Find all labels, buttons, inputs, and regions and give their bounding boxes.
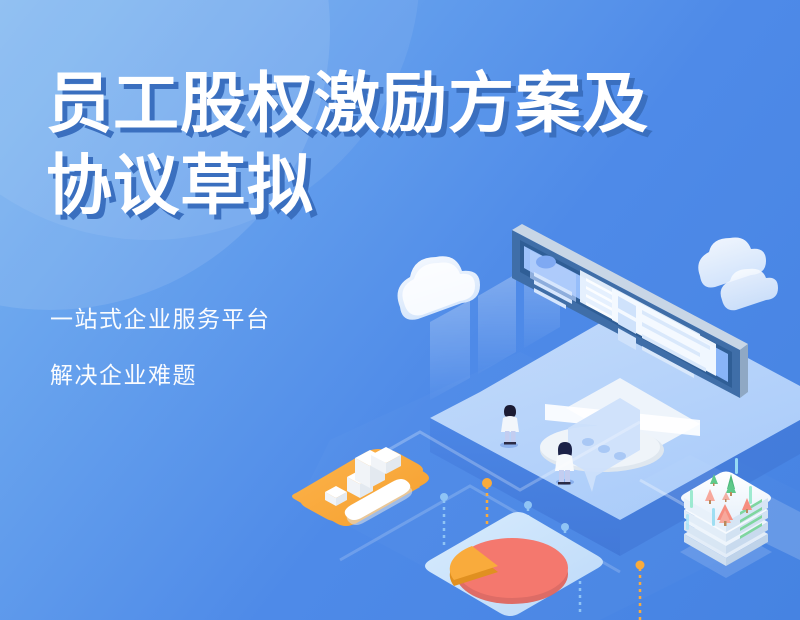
screen-sidebar [530,250,576,309]
bar-3 [355,450,385,488]
bar-4 [371,447,401,474]
pie-slice-orange [450,546,498,586]
connector-dotted-lines [300,422,700,620]
tree-pink-4 [742,498,752,513]
tree-pink-3 [717,504,733,526]
chat-bubble [568,398,640,492]
floor-planes [300,352,800,620]
cloud-right-lower [721,269,778,311]
desktop-monitor [512,224,748,472]
tree-green-2 [710,474,718,486]
tree-pink-2 [722,492,730,502]
tree-pink-1 [705,489,715,504]
subtitle: 一站式企业服务平台 解决企业难题 [50,306,271,418]
tree-green-1 [726,474,736,496]
glass-panels [430,250,560,400]
cloud-right-upper [698,237,766,287]
capsule-bar [345,479,413,525]
headline-line-1: 员工股权激励方案及 [46,62,766,144]
server-leds [740,499,762,539]
server-stack [680,458,772,578]
person-female [555,442,574,485]
headline-line-2: 协议草拟 [46,144,766,226]
subtitle-line-1: 一站式企业服务平台 [50,306,271,332]
headline: 员工股权激励方案及 协议草拟 [46,62,766,226]
subtitle-line-2: 解决企业难题 [50,362,271,388]
cloud-left [398,256,480,320]
desk-platform [430,300,800,556]
orange-platform-bar-chart [292,447,434,531]
bar-1 [325,486,347,506]
bar-2 [347,470,373,498]
promo-banner: 员工股权激励方案及 协议草拟 一站式企业服务平台 解决企业难题 [0,0,800,620]
person-male [500,405,519,448]
blue-platform-pie-chart [425,512,603,616]
document-window [580,270,716,378]
